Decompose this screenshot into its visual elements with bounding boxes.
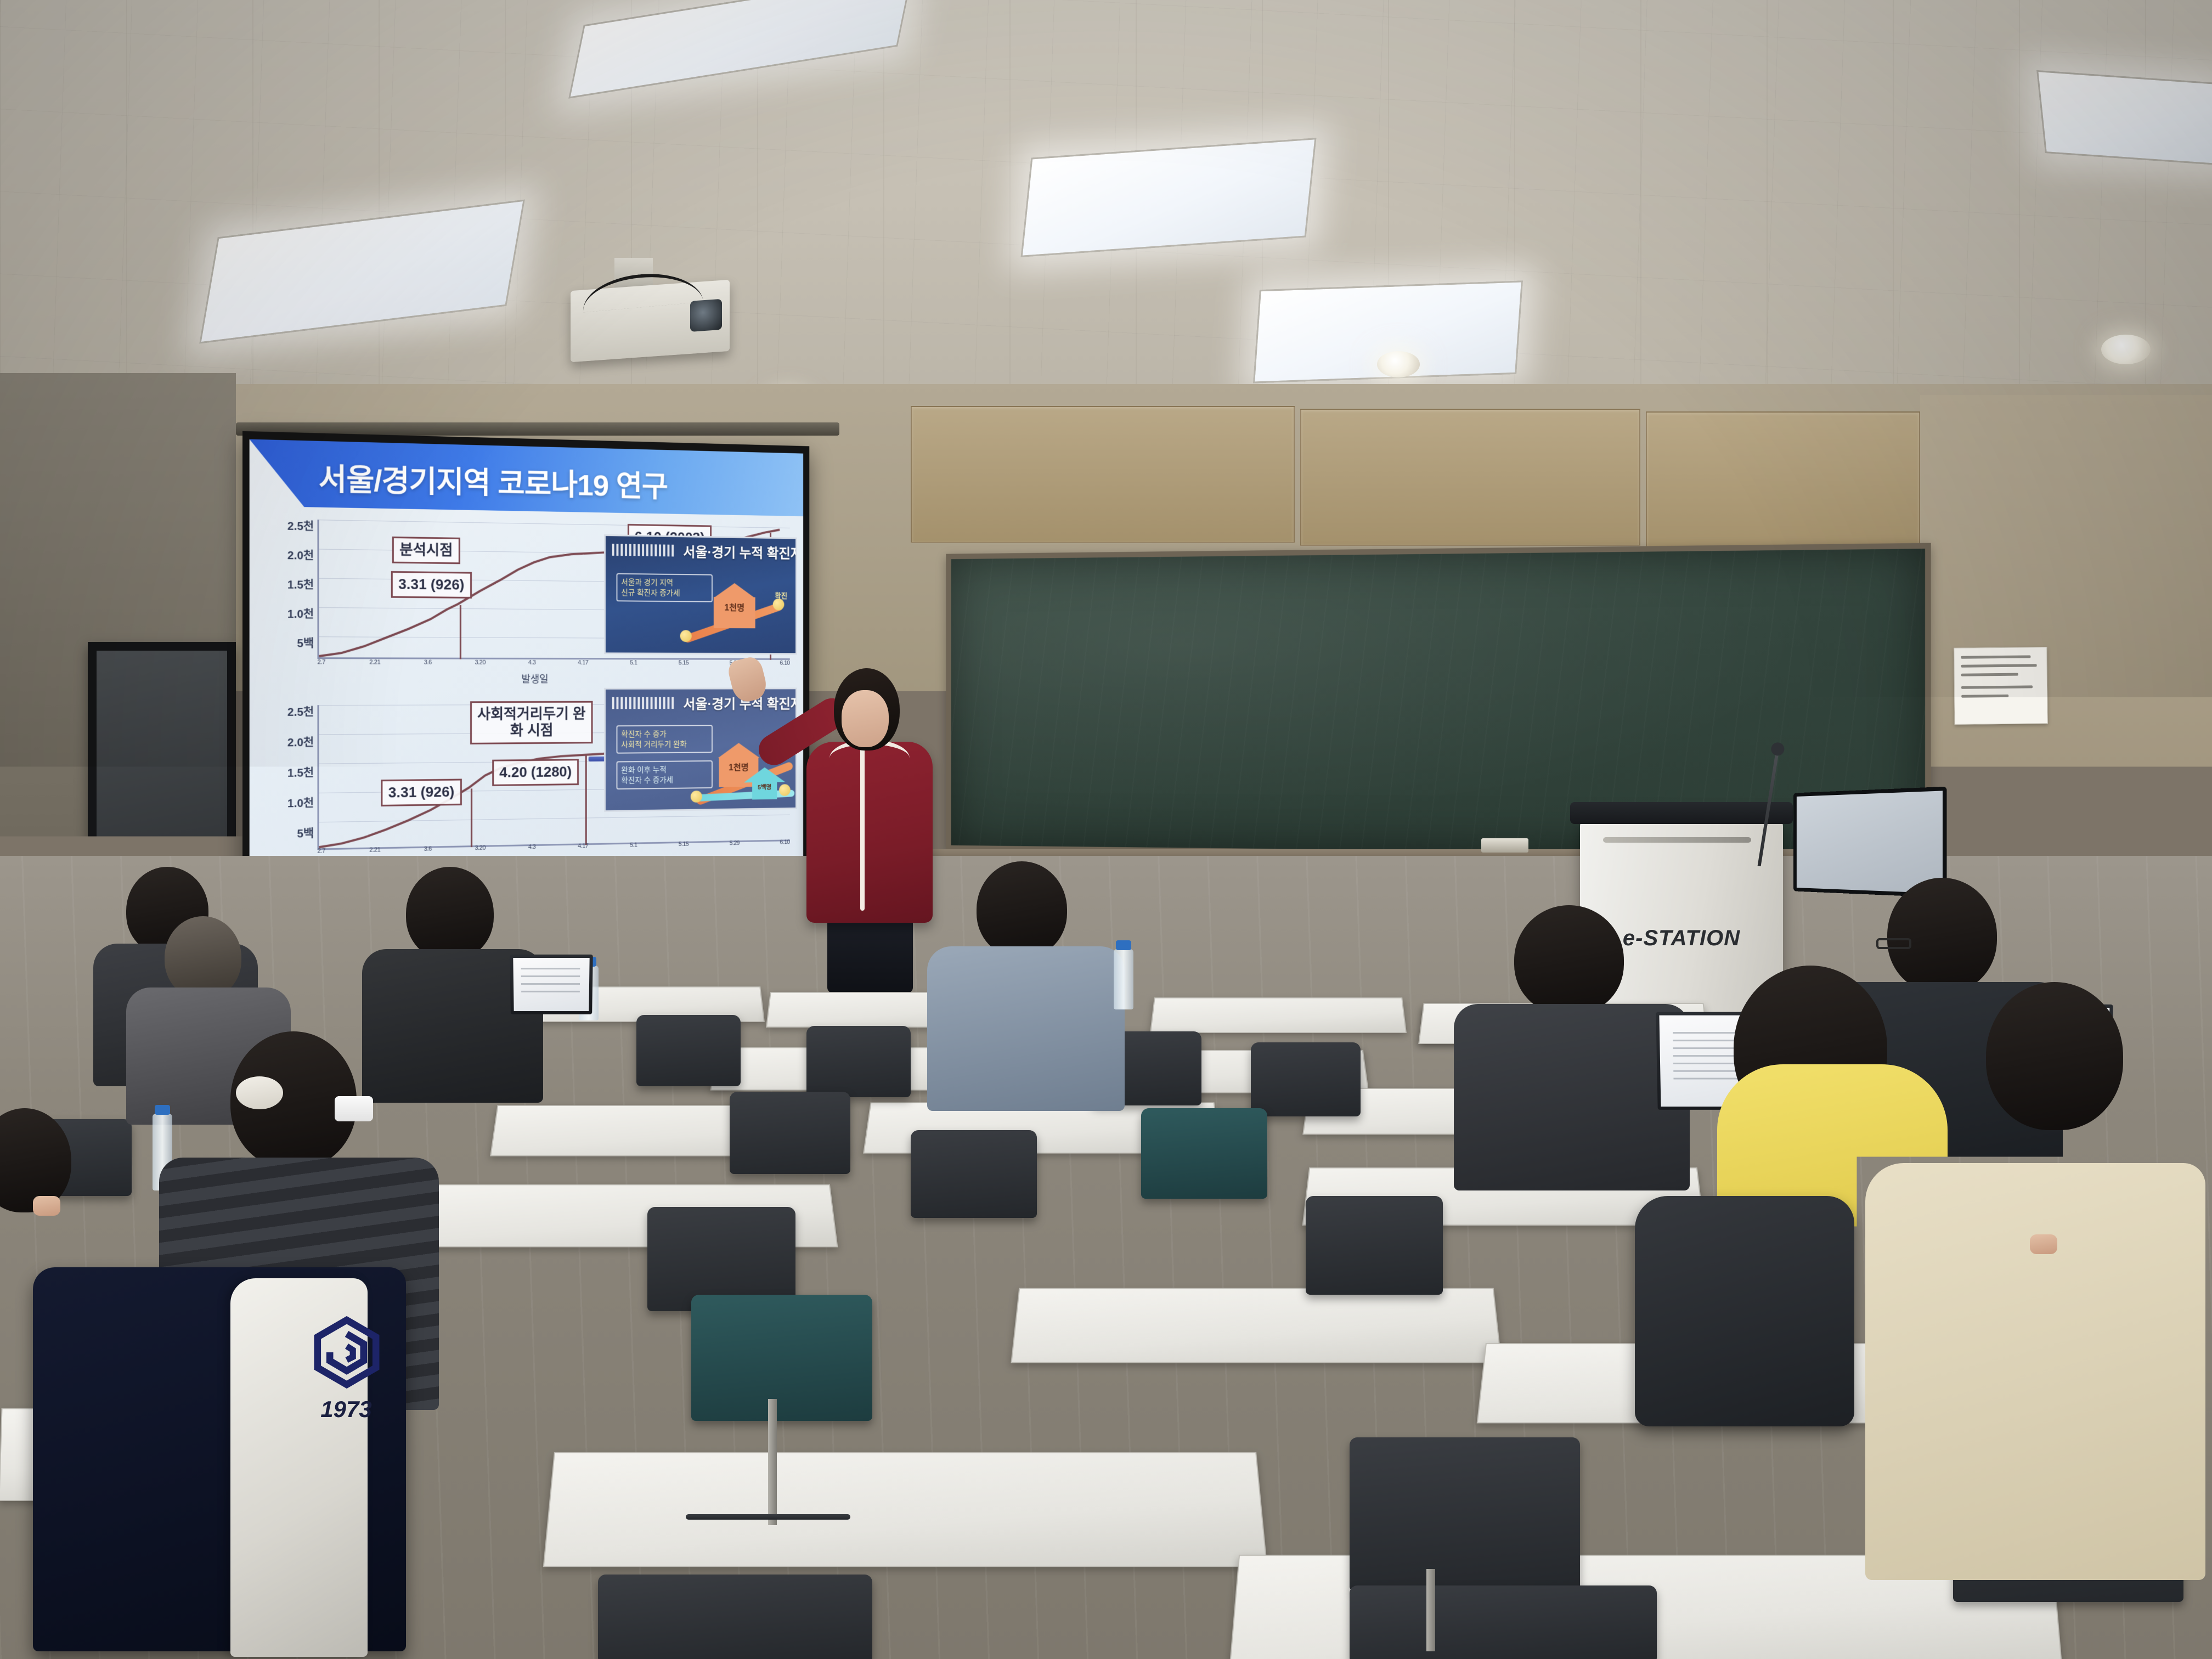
news-house-marker-secondary: 5백명 [752,781,777,800]
x-tick: 4.3 [528,659,536,673]
classroom-chair[interactable] [598,1575,872,1659]
classroom-chair[interactable] [1350,1437,1580,1591]
chair-post [1426,1569,1435,1651]
analysis-point-value: 3.31 (926) [391,571,472,599]
head [1986,982,2123,1130]
x-tick: 3.20 [475,659,486,673]
x-tick: 5.29 [730,840,740,853]
classroom-chair[interactable] [730,1092,850,1174]
head [1514,905,1624,1015]
news-side-tag: 확진 [775,590,787,600]
iced-drink-cup[interactable] [549,1147,607,1245]
classroom-chair[interactable] [1251,1042,1361,1116]
broadcaster-logo [612,544,676,556]
bottle-cap [155,1105,170,1115]
student-desk [1011,1288,1502,1363]
beige-coat-student [1865,1163,2205,1580]
hair-scrunchie [236,1076,283,1109]
eyeglasses [1876,938,1911,949]
x-tick: 4.17 [578,843,588,856]
head [1887,878,1997,993]
presenter-face [842,690,889,747]
wall-notice [1954,647,2047,725]
y-tick-label: 5백 [259,824,314,842]
podium-vent-slot [1603,837,1751,843]
ceiling-light-panel [2036,70,2212,166]
analysis-point-value-2: 3.31 (926) [381,779,461,806]
water-bottle[interactable] [1114,949,1133,1009]
news-inset-top: 서울·경기 누적 확진자 수 서울과 경기 지역 신규 확진자 증가세 1천명 … [604,534,797,654]
laptop-screen [513,958,589,1011]
news-house-value: 1천명 [714,600,755,613]
news-endpoint-dot [773,599,785,611]
student-laptop[interactable] [510,955,593,1014]
wall-wood-panel [1646,411,1920,549]
chair-base [686,1514,850,1520]
backpack [1635,1196,1854,1426]
x-tick: 5.1 [630,842,637,855]
classroom-chair[interactable] [1141,1108,1267,1199]
cup-sleeve [549,1205,607,1245]
x-tick: 2.21 [369,659,380,672]
bottle-cap [1116,940,1131,950]
x-tick: 4.17 [578,659,588,673]
podium-monitor-screen [1797,791,1943,893]
projection-screen: 서울/경기지역 코로나19 연구 2.5천 2.0천 1.5천 1.0천 5백 … [242,431,809,924]
emblem-year: 1973 [305,1396,387,1423]
classroom-chair[interactable] [1306,1196,1443,1295]
x-tick: 6.10 [780,839,789,852]
distancing-ease-vline [585,755,587,845]
y-tick-label: 2.0천 [259,733,314,750]
side-wall-right [1920,395,2212,889]
presentation-slide: 서울/경기지역 코로나19 연구 2.5천 2.0천 1.5천 1.0천 5백 … [250,439,803,883]
upper-chart-x-ticks: 2.7 2.21 3.6 3.20 4.3 4.17 5.1 5.15 5.29… [317,659,789,673]
presenter-legs [827,911,913,993]
chalkboard-eraser [1481,838,1528,853]
analysis-point-vline [460,605,461,659]
face-mask [335,1096,373,1121]
presenter-jacket-trim [860,746,865,911]
ceiling-light-panel [1021,138,1317,257]
university-emblem-icon [308,1314,385,1391]
classroom-chair[interactable] [806,1026,911,1097]
slide-header-band: 서울/경기지역 코로나19 연구 [250,439,803,517]
cup-lid [545,1140,610,1152]
wall-wood-panel [1300,409,1640,546]
classroom-chair[interactable] [1350,1585,1657,1659]
x-tick: 2.7 [317,659,325,673]
student-desk-front [543,1452,1267,1567]
hand [2030,1234,2057,1254]
x-tick: 5.1 [630,659,637,673]
torso [1454,1004,1690,1190]
news-house-marker: 1천명 [714,597,755,628]
upper-chart-x-label: 발생일 [255,672,798,686]
x-tick: 5.15 [679,841,689,854]
classroom-chair[interactable] [691,1295,872,1421]
news-headline: 서울·경기 누적 확진자 수 [683,541,797,563]
y-tick-label: 1.5천 [259,763,314,780]
news-house-value-2: 5백명 [752,783,777,792]
distancing-ease-label: 사회적거리두기 완 화 시점 [470,701,592,744]
x-tick: 5.15 [679,660,689,673]
x-tick: 6.10 [780,660,789,673]
y-tick-label: 1.5천 [259,575,314,592]
y-tick-label: 2.5천 [259,703,314,719]
broadcaster-logo [612,697,676,709]
news-note-a: 확진자 수 증가 사회적 거리두기 완화 [617,725,713,753]
news-endpoint-dot [680,630,692,642]
lecture-hall-photo: 서울/경기지역 코로나19 연구 2.5천 2.0천 1.5천 1.0천 5백 … [0,0,2212,1659]
classroom-chair[interactable] [636,1015,741,1086]
ceiling-downlight [2101,335,2151,364]
x-tick: 4.3 [528,844,536,857]
news-note-b: 완화 이후 누적 확진자 수 증가세 [617,760,713,789]
hand [33,1196,60,1216]
head [165,916,241,998]
wall-wood-panel [911,406,1295,543]
podium-top-surface [1570,802,1793,824]
head [406,867,494,960]
presenter-jacket [806,742,933,923]
torso [927,946,1125,1111]
distancing-ease-value: 4.20 (1280) [492,759,579,786]
analysis-point-vline-2 [471,788,472,847]
y-tick-label: 5백 [259,634,314,650]
ceiling-downlight [1377,351,1420,377]
classroom-chair[interactable] [911,1130,1037,1218]
y-tick-label: 1.0천 [259,604,314,621]
student-desk [1150,997,1407,1033]
slide-title: 서울/경기지역 코로나19 연구 [319,454,668,505]
x-tick: 3.6 [424,659,432,673]
head [977,861,1067,957]
chair-post [768,1399,777,1525]
y-tick-label: 2.5천 [259,516,314,533]
projector-lens [690,299,722,332]
news-note: 서울과 경기 지역 신규 확진자 증가세 [617,573,713,602]
y-tick-label: 1.0천 [259,794,314,811]
analysis-point-label: 분석시점 [392,537,460,564]
y-tick-label: 2.0천 [259,545,314,562]
